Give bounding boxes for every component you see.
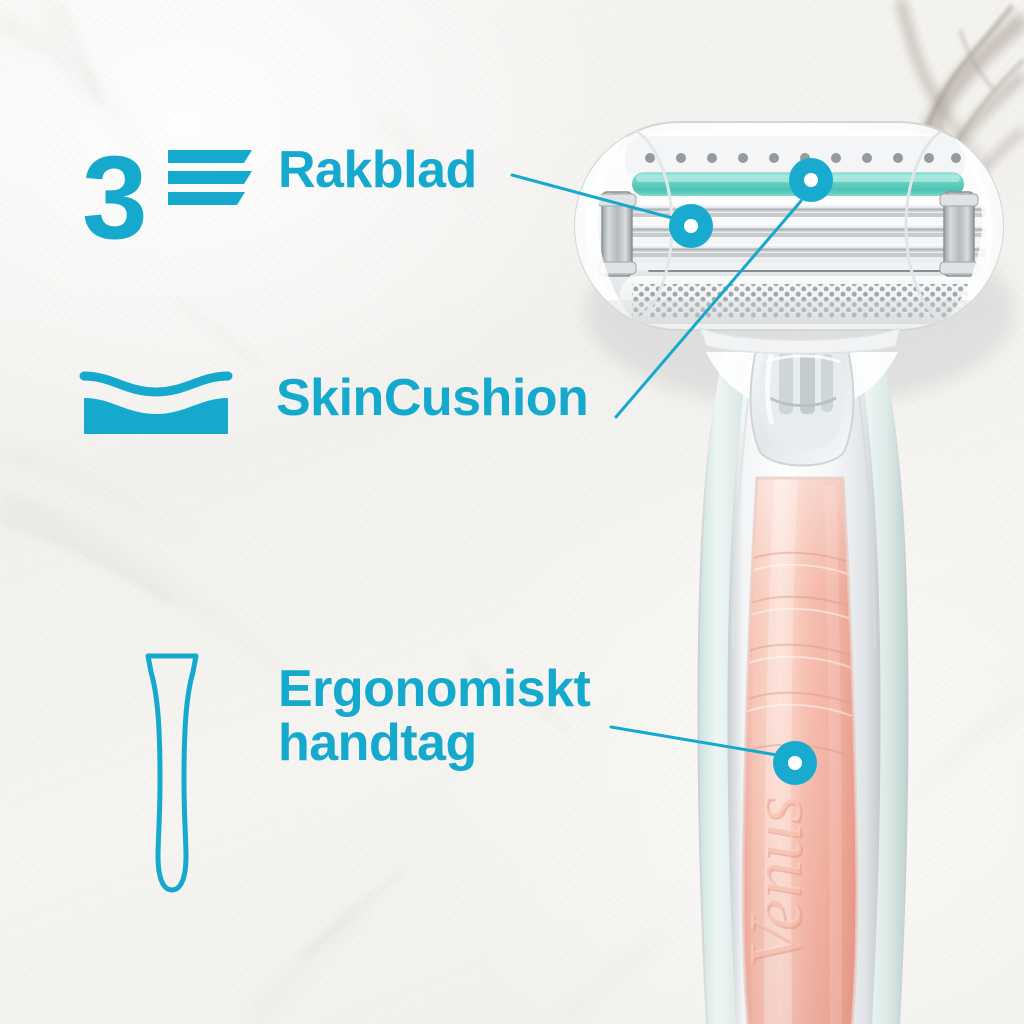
blade-lines [168,150,252,205]
infographic-canvas: Venus Venus [0,0,1024,1024]
razor-cartridge-head [568,122,1010,354]
feature-label-ergonomiskt-handtag: Ergonomiskt handtag [278,662,590,770]
three-blades-icon: 3 [82,142,252,254]
skin-cushion-wave-icon [82,370,230,436]
feature-label-skincushion: SkinCushion [276,371,588,425]
blade-clip-right [940,192,978,276]
feature-label-rakblad: Rakblad [278,143,477,197]
blade-count-label: 3 [82,132,148,264]
svg-text:Venus: Venus [735,794,817,967]
blade-stack [612,204,986,257]
ergonomic-handle-icon [140,650,204,896]
